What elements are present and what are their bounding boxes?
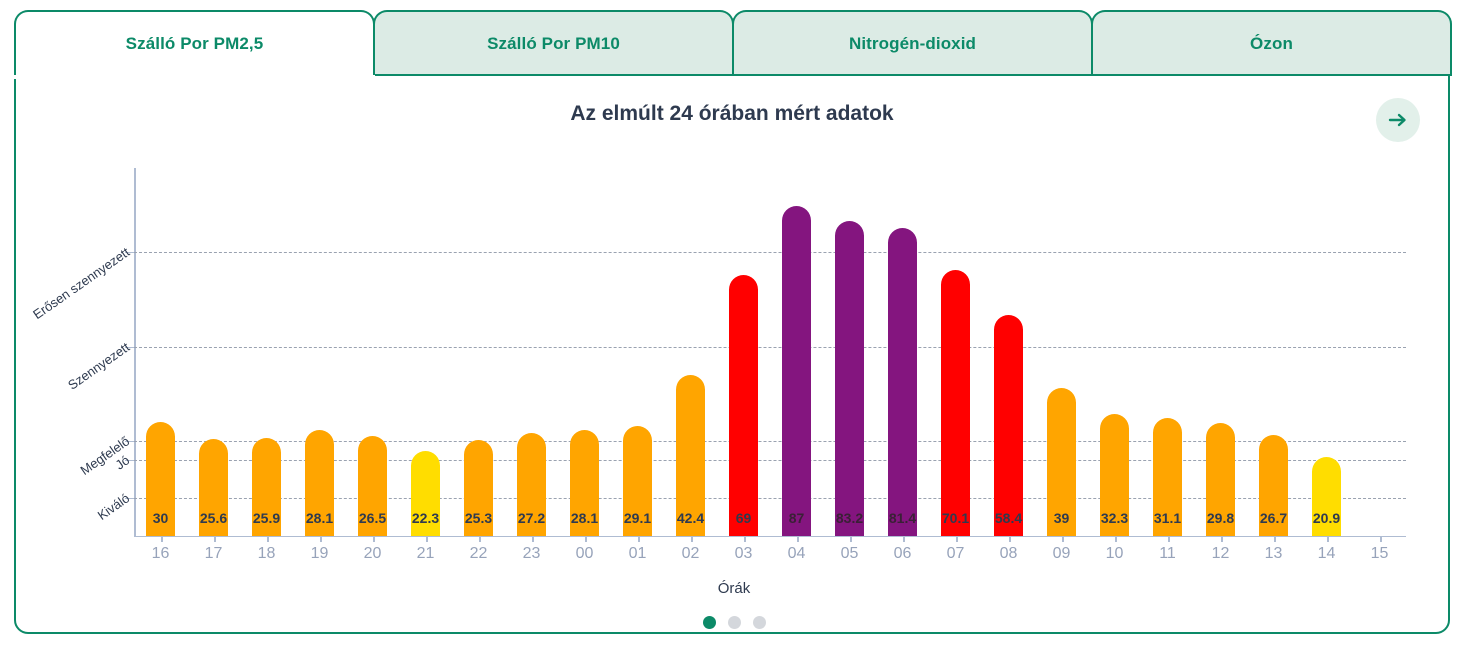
bar[interactable] xyxy=(994,315,1023,536)
bar-value-label: 87 xyxy=(768,510,826,526)
x-tick-label: 17 xyxy=(185,545,243,563)
tab-label: Nitrogén-dioxid xyxy=(849,34,976,54)
carousel-pagination xyxy=(16,616,1452,629)
x-tick-mark xyxy=(214,536,216,542)
air-quality-widget: Szálló Por PM2,5Szálló Por PM10Nitrogén-… xyxy=(0,0,1464,672)
bar-value-label: 42.4 xyxy=(662,510,720,526)
pagination-dot-1[interactable] xyxy=(728,616,741,629)
x-tick-mark xyxy=(1221,536,1223,542)
bar[interactable] xyxy=(835,221,864,536)
bar-value-label: 69 xyxy=(715,510,773,526)
bar-value-label: 31.1 xyxy=(1139,510,1197,526)
gridline xyxy=(134,347,1406,348)
x-tick-mark xyxy=(691,536,693,542)
x-tick-mark xyxy=(267,536,269,542)
x-tick-label: 06 xyxy=(874,545,932,563)
pagination-dot-2[interactable] xyxy=(753,616,766,629)
bar-value-label: 39 xyxy=(1033,510,1091,526)
x-tick-mark xyxy=(1274,536,1276,542)
x-tick-label: 18 xyxy=(238,545,296,563)
chart-card: Az elmúlt 24 órában mért adatok Mértékeg… xyxy=(14,74,1450,634)
x-tick-label: 16 xyxy=(132,545,190,563)
x-tick-mark xyxy=(320,536,322,542)
x-axis-line xyxy=(134,536,1406,537)
x-tick-label: 00 xyxy=(556,545,614,563)
x-tick-label: 01 xyxy=(609,545,667,563)
bar-value-label: 58.4 xyxy=(980,510,1038,526)
x-tick-mark xyxy=(1009,536,1011,542)
tab-3[interactable]: Ózon xyxy=(1091,10,1452,76)
bar[interactable] xyxy=(888,228,917,536)
x-tick-label: 02 xyxy=(662,545,720,563)
x-tick-label: 11 xyxy=(1139,545,1197,563)
pollutant-tab-strip: Szálló Por PM2,5Szálló Por PM10Nitrogén-… xyxy=(14,10,1450,76)
x-axis-title: Órák xyxy=(16,580,1452,597)
x-tick-label: 10 xyxy=(1086,545,1144,563)
bar[interactable] xyxy=(941,270,970,536)
gridline xyxy=(134,252,1406,253)
bar-value-label: 83.2 xyxy=(821,510,879,526)
x-tick-mark xyxy=(1062,536,1064,542)
bar-value-label: 30 xyxy=(132,510,190,526)
bar-value-label: 26.5 xyxy=(344,510,402,526)
bar-value-label: 25.3 xyxy=(450,510,508,526)
x-tick-mark xyxy=(903,536,905,542)
bar-value-label: 81.4 xyxy=(874,510,932,526)
bar-value-label: 32.3 xyxy=(1086,510,1144,526)
x-tick-mark xyxy=(850,536,852,542)
bar-value-label: 29.8 xyxy=(1192,510,1250,526)
bar-value-label: 20.9 xyxy=(1298,510,1356,526)
x-tick-label: 20 xyxy=(344,545,402,563)
bar-value-label: 29.1 xyxy=(609,510,667,526)
x-tick-mark xyxy=(956,536,958,542)
x-tick-label: 09 xyxy=(1033,545,1091,563)
x-tick-mark xyxy=(479,536,481,542)
x-tick-label: 07 xyxy=(927,545,985,563)
x-tick-mark xyxy=(1380,536,1382,542)
x-tick-mark xyxy=(532,536,534,542)
tab-2[interactable]: Nitrogén-dioxid xyxy=(732,10,1093,76)
bar[interactable] xyxy=(729,275,758,536)
x-tick-mark xyxy=(744,536,746,542)
x-tick-mark xyxy=(161,536,163,542)
x-tick-label: 03 xyxy=(715,545,773,563)
tab-label: Szálló Por PM2,5 xyxy=(126,34,264,54)
pagination-dot-0[interactable] xyxy=(703,616,716,629)
y-axis-line xyxy=(134,168,136,536)
hourly-bar-chart: Mértékegység: µg/m3 Órák Erősen szennyez… xyxy=(16,76,1452,636)
x-tick-mark xyxy=(373,536,375,542)
x-tick-label: 15 xyxy=(1351,545,1409,563)
x-tick-label: 22 xyxy=(450,545,508,563)
tab-1[interactable]: Szálló Por PM10 xyxy=(373,10,734,76)
x-tick-mark xyxy=(797,536,799,542)
x-tick-mark xyxy=(585,536,587,542)
x-tick-label: 12 xyxy=(1192,545,1250,563)
bar-value-label: 25.9 xyxy=(238,510,296,526)
x-tick-label: 13 xyxy=(1245,545,1303,563)
bar-value-label: 28.1 xyxy=(291,510,349,526)
x-tick-mark xyxy=(1168,536,1170,542)
bar-value-label: 27.2 xyxy=(503,510,561,526)
bar-value-label: 25.6 xyxy=(185,510,243,526)
x-tick-label: 19 xyxy=(291,545,349,563)
x-tick-mark xyxy=(1115,536,1117,542)
bar-value-label: 28.1 xyxy=(556,510,614,526)
tab-label: Szálló Por PM10 xyxy=(487,34,620,54)
bar-value-label: 22.3 xyxy=(397,510,455,526)
tab-label: Ózon xyxy=(1250,34,1293,54)
bar-value-label: 70.1 xyxy=(927,510,985,526)
x-tick-mark xyxy=(1327,536,1329,542)
x-tick-label: 04 xyxy=(768,545,826,563)
bar[interactable] xyxy=(782,206,811,536)
x-tick-label: 08 xyxy=(980,545,1038,563)
x-tick-label: 21 xyxy=(397,545,455,563)
x-tick-label: 14 xyxy=(1298,545,1356,563)
tab-0[interactable]: Szálló Por PM2,5 xyxy=(14,10,375,76)
x-tick-mark xyxy=(426,536,428,542)
x-tick-label: 05 xyxy=(821,545,879,563)
x-tick-label: 23 xyxy=(503,545,561,563)
bar-value-label: 26.7 xyxy=(1245,510,1303,526)
x-tick-mark xyxy=(638,536,640,542)
